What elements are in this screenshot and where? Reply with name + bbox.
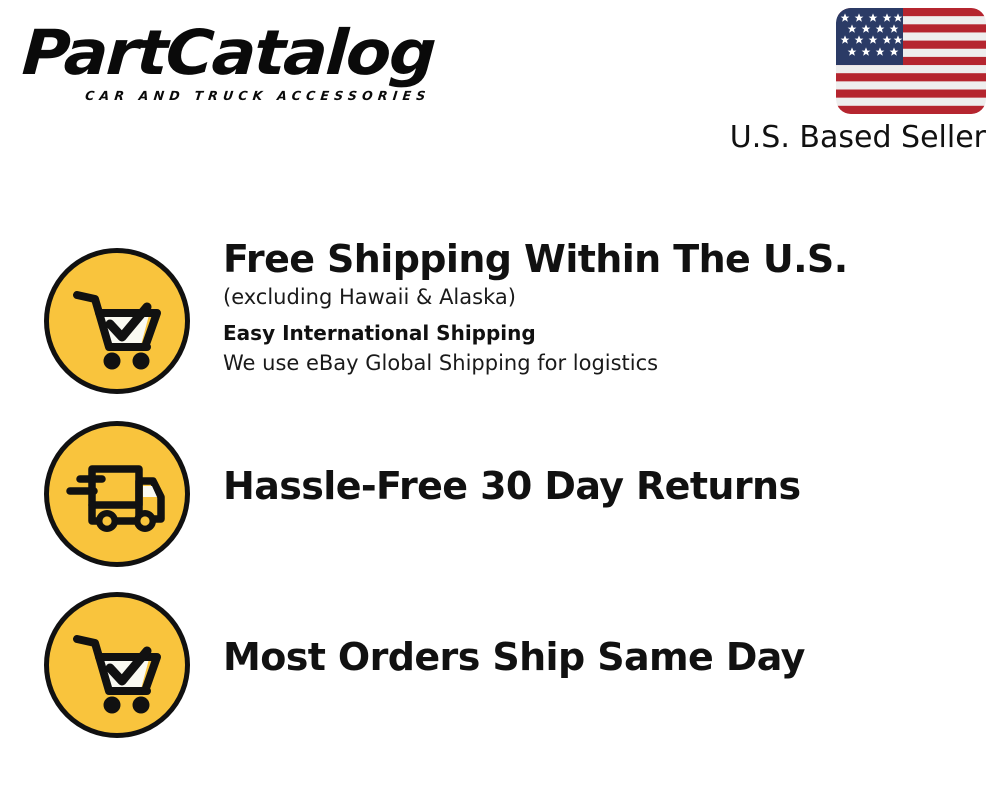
brand-tagline: CAR AND TRUCK ACCESSORIES [22,88,494,103]
feature-row: Free Shipping Within The U.S. (excluding… [0,236,1000,396]
delivery-truck-icon [44,421,190,567]
page-header: PartCatalog CAR AND TRUCK ACCESSORIES [0,0,1000,170]
shopping-cart-check-icon [44,248,190,394]
feature-row: Hassle-Free 30 Day Returns [0,408,1000,568]
feature-subtext-bold: Easy International Shipping [223,318,983,348]
feature-subtext: (excluding Hawaii & Alaska) [223,282,983,312]
us-flag-icon [836,8,986,114]
feature-text: Most Orders Ship Same Day [223,634,983,680]
feature-row: Most Orders Ship Same Day [0,579,1000,739]
feature-text: Hassle-Free 30 Day Returns [223,463,983,509]
feature-heading: Hassle-Free 30 Day Returns [223,463,983,509]
feature-subtext-secondary: We use eBay Global Shipping for logistic… [223,348,983,378]
brand-wordmark: PartCatalog [21,22,523,84]
seller-label: U.S. Based Seller [706,120,986,156]
feature-heading: Free Shipping Within The U.S. [223,236,983,282]
shopping-cart-check-icon [44,592,190,738]
brand-logo[interactable]: PartCatalog CAR AND TRUCK ACCESSORIES [24,22,494,114]
feature-heading: Most Orders Ship Same Day [223,634,983,680]
feature-text: Free Shipping Within The U.S. (excluding… [223,236,983,378]
seller-block: U.S. Based Seller [706,8,986,156]
